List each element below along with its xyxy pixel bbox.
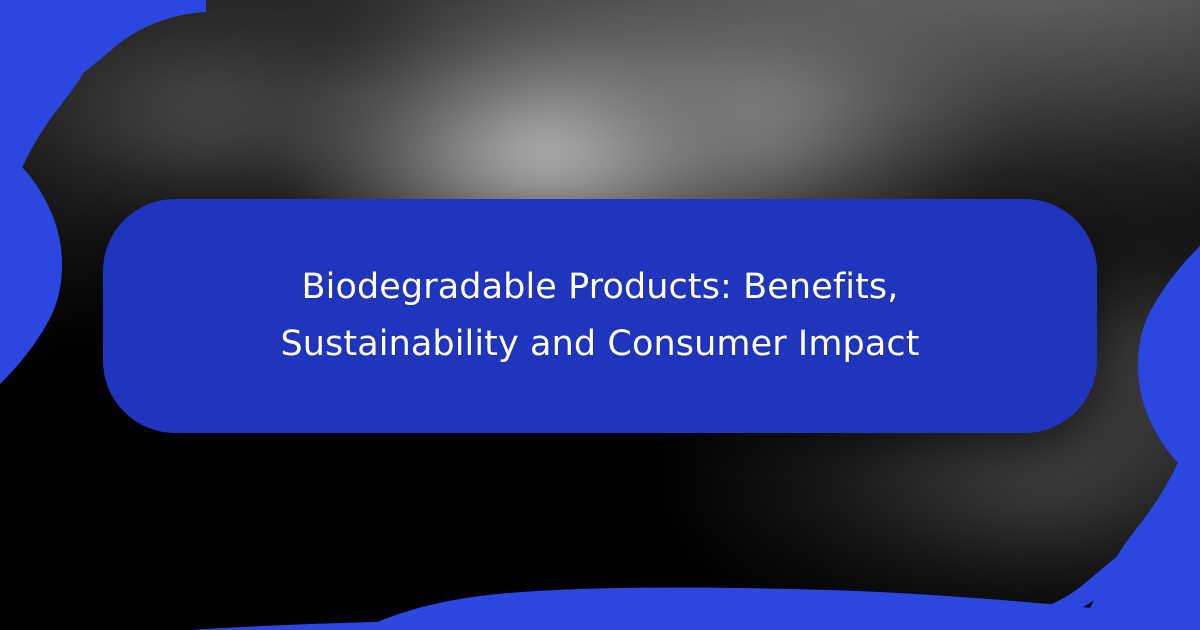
cover-canvas: Biodegradable Products: Benefits, Sustai… bbox=[0, 0, 1200, 630]
page-title: Biodegradable Products: Benefits, Sustai… bbox=[246, 259, 954, 372]
title-card: Biodegradable Products: Benefits, Sustai… bbox=[103, 199, 1097, 433]
